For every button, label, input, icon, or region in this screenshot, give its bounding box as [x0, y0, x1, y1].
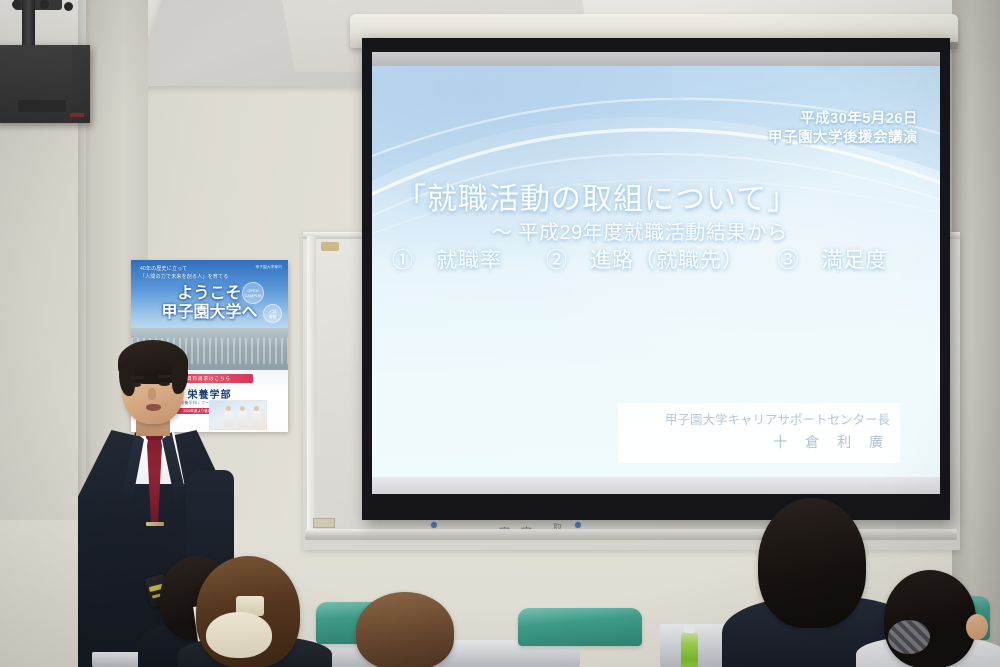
lecture-hall-photo: 室 室 取 平成30年5月26日 甲子園大学後援会講演 「 [0, 0, 1000, 667]
poster-kicker-line-2: 「人間の力で未来を創る人」を育てる [140, 274, 248, 282]
poster-bubble-1-label: OPENCAMPUS [243, 288, 263, 298]
slide-date-line-2: 甲子園大学後援会講演 [768, 129, 918, 148]
poster-photo-figure-1 [224, 411, 233, 427]
whiteboard-left-strip [307, 236, 316, 536]
whiteboard-magnet-2[interactable] [575, 522, 581, 528]
poster-photo-figure-3 [252, 411, 261, 427]
poster-photo-figure-2 [238, 411, 247, 427]
audience-member-left-2-scrunchie [206, 612, 272, 658]
presenter-mouth [146, 404, 161, 411]
slide-presenter-name: 十 倉 利 廣 [628, 431, 890, 454]
speaker-brand-logo [70, 113, 84, 117]
projection-screen-surface: 平成30年5月26日 甲子園大学後援会講演 「就職活動の取組について」 〜 平成… [372, 52, 940, 494]
slide-presenter-org: 甲子園大学キャリアサポートセンター長 [628, 410, 890, 431]
poster-headline-line-1: ようこそ [131, 285, 288, 304]
slide-date-line-1: 平成30年5月26日 [768, 110, 918, 129]
presenter-eye-right [159, 382, 170, 386]
bottle-cap [684, 625, 695, 633]
audience-member-right-2-scrunchie [888, 620, 930, 654]
presenter-nose [148, 388, 156, 400]
poster-bubble-2: 入試情報 [263, 304, 282, 323]
audience-member-right-2-head [884, 570, 976, 667]
slide-subtitle: 〜 平成29年度就職活動結果から [492, 216, 788, 245]
poster-bubble-1: OPENCAMPUS [242, 282, 264, 304]
poster-corner-tag: 甲子園大学案内 [255, 265, 282, 270]
poster-photo [209, 400, 267, 430]
whiteboard-label [313, 518, 335, 528]
audience-member-right-1-head [758, 498, 866, 628]
slide-agenda-items: ① 就職率 ② 進路（就職先） ③ 満足度 [392, 244, 888, 274]
whiteboard-clip-left[interactable] [321, 242, 339, 251]
audience-member-center-head [356, 592, 454, 667]
presenter-tie-clip [146, 522, 164, 526]
screen-bottom-margin [372, 477, 940, 494]
speaker-knob-mid [40, 0, 49, 9]
audience-member-right-2-ear [966, 614, 988, 640]
green-drink-bottle[interactable] [681, 632, 698, 667]
chair-center[interactable] [518, 608, 642, 646]
whiteboard-magnet-1[interactable] [431, 522, 437, 528]
poster-bubble-2-label: 入試情報 [264, 308, 281, 318]
poster-kicker-line-1: 40年の歴史に立って [140, 266, 248, 274]
presenter-eye-left [130, 383, 141, 387]
presenter-brow-left [130, 376, 144, 379]
presenter-brow-right [158, 375, 172, 378]
speaker-knob-left [12, 0, 21, 9]
speaker-bracket [18, 100, 66, 112]
slide-presenter-block: 甲子園大学キャリアサポートセンター長 十 倉 利 廣 [618, 403, 900, 463]
slide-title: 「就職活動の取組について」 [396, 174, 798, 218]
poster-kicker: 40年の歴史に立って 「人間の力で未来を創る人」を育てる [140, 266, 248, 282]
slide-date-block: 平成30年5月26日 甲子園大学後援会講演 [768, 110, 918, 148]
speaker-knob-right [64, 2, 73, 11]
presentation-slide: 平成30年5月26日 甲子園大学後援会講演 「就職活動の取組について」 〜 平成… [372, 66, 940, 477]
screen-top-margin [372, 52, 940, 66]
